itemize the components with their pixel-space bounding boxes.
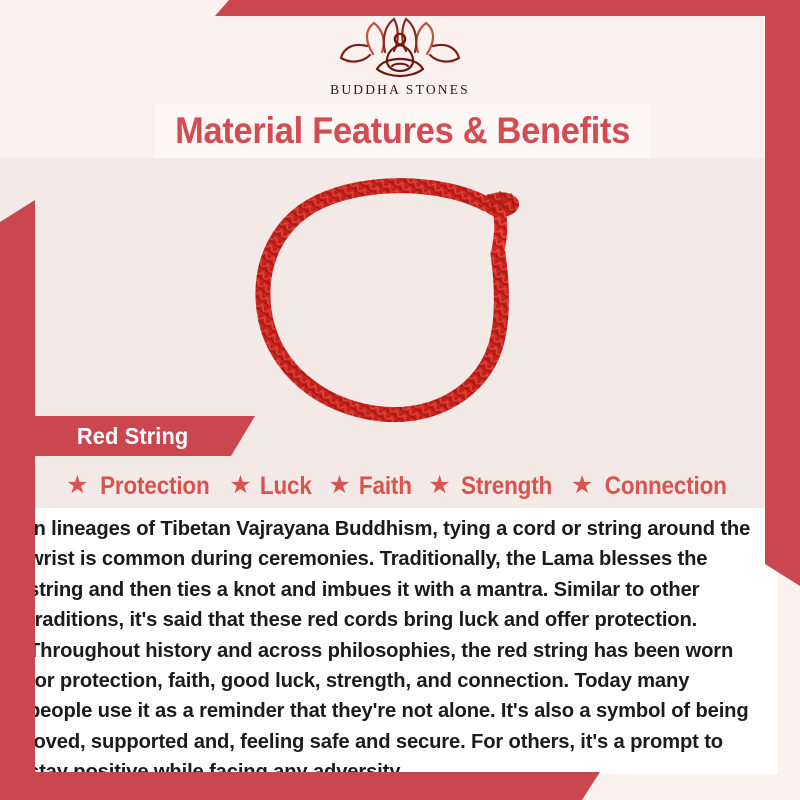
benefits-list: ★ Protection ★ Luck ★ Faith ★ Strength ★… (0, 466, 800, 506)
page-title: Material Features & Benefits (175, 110, 630, 152)
benefit-item-luck: ★ Luck (229, 472, 314, 501)
description-text: In lineages of Tibetan Vajrayana Buddhis… (28, 514, 757, 788)
bottom-red-accent-band (0, 772, 600, 800)
infographic-poster: BUDDHA STONES Material Features & Benefi… (0, 0, 800, 800)
red-braided-string-bracelet-icon (250, 162, 550, 439)
benefit-item-protection: ★ Protection (66, 472, 215, 501)
product-name: Red String (77, 423, 188, 450)
brand-wordmark: BUDDHA STONES (0, 82, 800, 98)
benefit-label: Luck (260, 472, 312, 501)
benefit-item-faith: ★ Faith (328, 472, 414, 501)
top-red-accent-band (215, 0, 800, 16)
benefit-label: Connection (605, 472, 727, 501)
brand-logo: BUDDHA STONES (0, 16, 800, 98)
product-image (0, 160, 800, 440)
star-icon: ★ (229, 473, 251, 498)
benefit-label: Faith (359, 472, 412, 501)
benefit-label: Strength (461, 472, 552, 501)
lotus-meditation-icon (0, 16, 800, 80)
star-icon: ★ (428, 473, 450, 498)
star-icon: ★ (66, 473, 88, 498)
left-red-accent-strip (0, 200, 35, 800)
title-band: Material Features & Benefits (155, 104, 650, 158)
star-icon: ★ (571, 473, 593, 498)
right-red-accent-strip (765, 0, 800, 586)
star-icon: ★ (328, 473, 350, 498)
product-name-banner: Red String (22, 416, 255, 456)
benefit-item-strength: ★ Strength (428, 472, 557, 501)
description-panel: In lineages of Tibetan Vajrayana Buddhis… (22, 508, 778, 774)
benefit-label: Protection (100, 472, 209, 501)
benefit-item-connection: ★ Connection (571, 472, 734, 501)
